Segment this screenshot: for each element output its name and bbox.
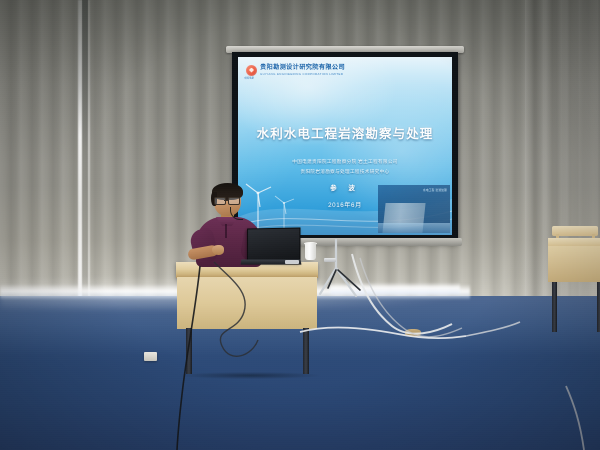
dam-inset-caption: 水电工程 岩溶处理 bbox=[423, 189, 447, 193]
conference-room-photo: 中国电建 贵阳勘测设计研究院有限公司 GUIYANG ENGINEERING C… bbox=[0, 0, 600, 450]
glasses-lens-left bbox=[214, 197, 226, 205]
dam-water-shape bbox=[378, 223, 450, 233]
power-cables bbox=[0, 236, 600, 450]
dam-photo-inset: 水电工程 岩溶处理 bbox=[378, 185, 450, 233]
slide-title: 水利水电工程岩溶勘察与处理 bbox=[238, 123, 452, 142]
company-name-block: 贵阳勘测设计研究院有限公司 GUIYANG ENGINEERING CORPOR… bbox=[260, 65, 345, 76]
glasses-icon bbox=[214, 197, 241, 203]
company-logo-icon: 中国电建 bbox=[246, 65, 257, 76]
company-name-en: GUIYANG ENGINEERING CORPORATION LIMITED bbox=[260, 73, 345, 76]
glasses-lens-right bbox=[228, 197, 240, 205]
slide-header: 中国电建 贵阳勘测设计研究院有限公司 GUIYANG ENGINEERING C… bbox=[246, 65, 345, 76]
logo-caption: 中国电建 bbox=[244, 76, 254, 80]
company-name-cn: 贵阳勘测设计研究院有限公司 bbox=[260, 65, 345, 72]
slide-subtitle-line1: 中国电建贵阳院工程勘察分院 岩土工程有限公司 bbox=[238, 159, 452, 165]
